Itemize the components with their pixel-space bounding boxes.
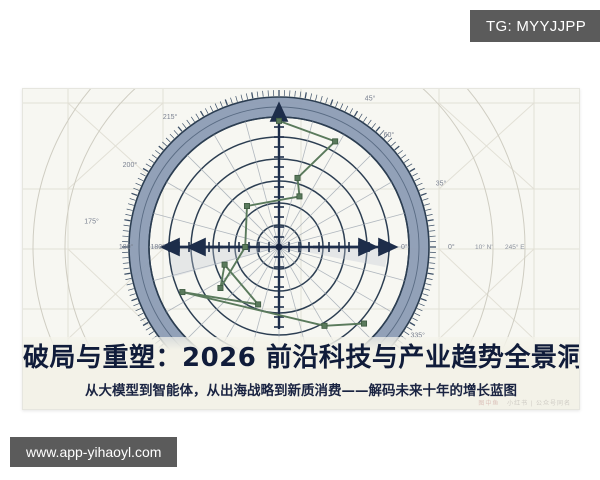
svg-text:180°: 180° — [151, 243, 166, 251]
top-right-watermark-badge: TG: MYYJJPP — [470, 10, 600, 42]
chart-center-hub — [276, 244, 283, 251]
top-badge-label: TG: MYYJJPP — [486, 18, 586, 35]
svg-text:0°: 0° — [448, 243, 455, 251]
svg-text:245° E: 245° E — [505, 243, 525, 251]
svg-text:0°: 0° — [401, 243, 408, 251]
svg-text:45°: 45° — [365, 94, 376, 102]
svg-text:175°: 175° — [84, 218, 99, 226]
card-watermark-mark: 图中鱼 — [478, 401, 499, 407]
svg-text:180°: 180° — [119, 243, 134, 251]
svg-text:60°: 60° — [384, 131, 395, 139]
svg-text:200°: 200° — [123, 161, 138, 169]
coordinate-annotations: 10° N' 245° E — [475, 243, 525, 251]
bottom-left-watermark-badge: www.app-yihaoyl.com — [10, 437, 177, 467]
vertical-axis — [274, 105, 284, 329]
page-subtitle: 从大模型到智能体，从出海战略到新质消费——解码未来十年的增长蓝图 — [23, 379, 579, 399]
bottom-badge-label: www.app-yihaoyl.com — [26, 444, 161, 460]
svg-text:215°: 215° — [163, 113, 178, 121]
svg-text:35°: 35° — [436, 180, 447, 188]
data-series-1 — [180, 118, 367, 328]
poster-card: 0°35°60°45°30°220°215°200°175°180°300°33… — [22, 88, 580, 410]
page-title: 破局与重塑：2026 前沿科技与产业趋势全景洞察 — [23, 343, 579, 374]
card-watermark-text: 小红书 | 公众号同名 — [507, 401, 571, 407]
card-watermark: 图中鱼 小红书 | 公众号同名 — [478, 398, 571, 407]
svg-text:10° N': 10° N' — [475, 243, 493, 251]
